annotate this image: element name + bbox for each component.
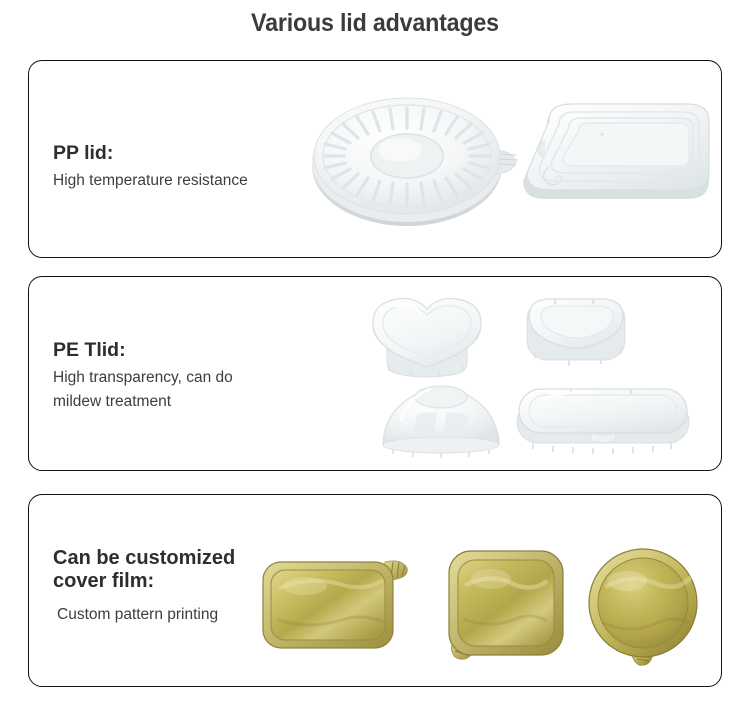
panel-pe-lid-text: PE Tlid: High transparency, can do milde… [53, 339, 233, 414]
product-heart-shaped-clear-lid [359, 285, 499, 385]
panel-pp-lid-heading: PP lid: [53, 142, 248, 165]
page-title: Various lid advantages [26, 9, 724, 38]
panel-cover-film: Can be customized cover film: Custom pat… [28, 494, 722, 687]
panel-pp-lid-subtitle: High temperature resistance [53, 169, 248, 193]
panel-pe-lid: PE Tlid: High transparency, can do milde… [28, 276, 722, 471]
panel-pp-lid-text: PP lid: High temperature resistance [53, 142, 248, 193]
product-oval-clear-lid [513, 383, 693, 455]
product-dome-cup-lid [377, 377, 505, 459]
svg-text:✦: ✦ [599, 131, 605, 139]
product-square-clear-lid [517, 286, 637, 378]
product-gold-round-cover-film [581, 545, 713, 669]
panel-pp-lid: PP lid: High temperature resistance [28, 60, 722, 258]
panel-pe-lid-subtitle: High transparency, can do mildew treatme… [53, 366, 233, 414]
panel-pe-lid-heading: PE Tlid: [53, 339, 233, 362]
product-round-pp-lid [306, 86, 521, 231]
product-rectangular-pp-lid: ✦ [511, 89, 721, 224]
product-gold-rectangular-cover-film [257, 548, 417, 658]
panel-cover-film-text: Can be customized cover film: Custom pat… [53, 547, 235, 627]
product-gold-square-cover-film [441, 545, 576, 665]
panel-cover-film-subtitle: Custom pattern printing [53, 597, 235, 627]
panel-cover-film-heading: Can be customized cover film: [53, 547, 235, 593]
